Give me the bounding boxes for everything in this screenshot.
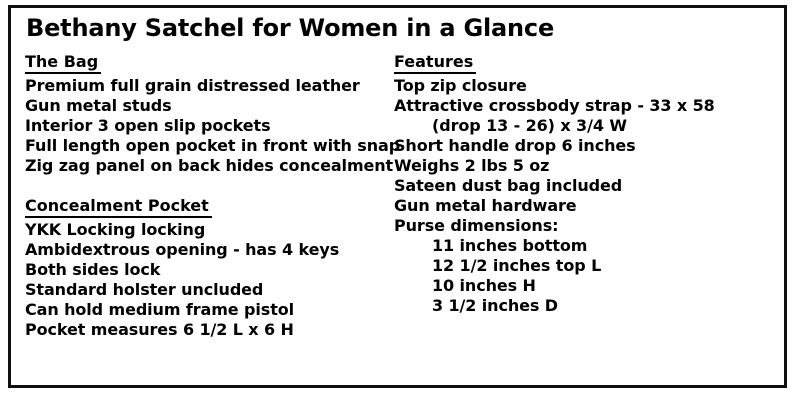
list-item: Gun metal hardware xyxy=(394,196,774,216)
list-item: Standard holster uncluded xyxy=(25,280,395,300)
list-item: Top zip closure xyxy=(394,76,774,96)
list-item: 11 inches bottom xyxy=(394,236,774,256)
list-item: Purse dimensions: xyxy=(394,216,774,236)
section-heading-features: Features xyxy=(394,52,476,74)
list-item: Pocket measures 6 1/2 L x 6 H xyxy=(25,320,395,340)
right-column: FeaturesTop zip closureAttractive crossb… xyxy=(394,52,774,316)
list-item: Premium full grain distressed leather xyxy=(25,76,395,96)
section-concealment-pocket: Concealment PocketYKK Locking lockingAmb… xyxy=(25,196,395,340)
section-heading-concealment-pocket: Concealment Pocket xyxy=(25,196,212,218)
list-item: Sateen dust bag included xyxy=(394,176,774,196)
list-the-bag: Premium full grain distressed leatherGun… xyxy=(25,76,395,176)
list-item: Zig zag panel on back hides concealment xyxy=(25,156,395,176)
list-item: Full length open pocket in front with sn… xyxy=(25,136,395,156)
section-features: FeaturesTop zip closureAttractive crossb… xyxy=(394,52,774,316)
list-item: 3 1/2 inches D xyxy=(394,296,774,316)
list-item: 12 1/2 inches top L xyxy=(394,256,774,276)
list-item: (drop 13 - 26) x 3/4 W xyxy=(394,116,774,136)
list-concealment-pocket: YKK Locking lockingAmbidextrous opening … xyxy=(25,220,395,340)
list-item: Attractive crossbody strap - 33 x 58 xyxy=(394,96,774,116)
list-item: Gun metal studs xyxy=(25,96,395,116)
list-item: Interior 3 open slip pockets xyxy=(25,116,395,136)
list-item: Both sides lock xyxy=(25,260,395,280)
section-heading-the-bag: The Bag xyxy=(25,52,101,74)
list-item: Can hold medium frame pistol xyxy=(25,300,395,320)
list-item: Weighs 2 lbs 5 oz xyxy=(394,156,774,176)
list-item: YKK Locking locking xyxy=(25,220,395,240)
list-item: Short handle drop 6 inches xyxy=(394,136,774,156)
page-title: Bethany Satchel for Women in a Glance xyxy=(26,13,554,43)
list-features: Top zip closureAttractive crossbody stra… xyxy=(394,76,774,316)
section-the-bag: The BagPremium full grain distressed lea… xyxy=(25,52,395,176)
product-info-card: Bethany Satchel for Women in a Glance Th… xyxy=(8,5,787,388)
left-column: The BagPremium full grain distressed lea… xyxy=(25,52,395,340)
list-item: 10 inches H xyxy=(394,276,774,296)
list-item: Ambidextrous opening - has 4 keys xyxy=(25,240,395,260)
